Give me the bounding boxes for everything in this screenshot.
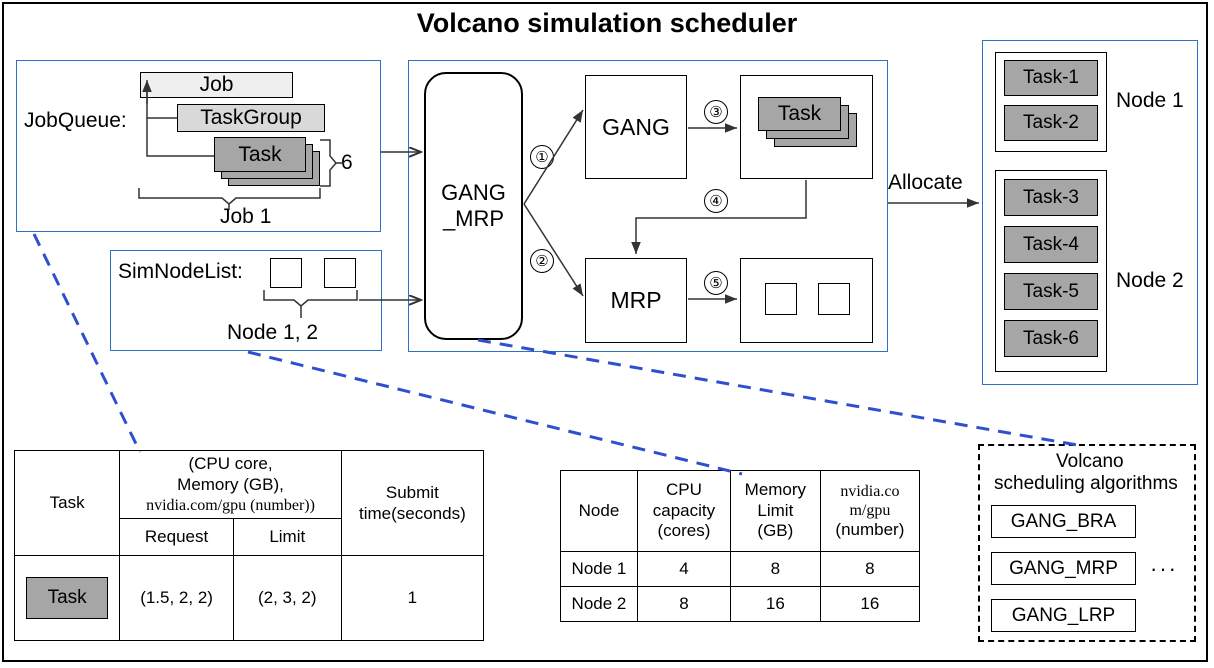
node-table-header-gpu: nvidia.co m/gpu (number): [820, 471, 919, 552]
node-table-cell-node: Node 1: [561, 552, 638, 587]
node-2-label: Node 2: [1116, 270, 1184, 292]
node-table: Node CPU capacity (cores) Memory Limit (…: [560, 470, 920, 622]
node12-brace-label: Node 1, 2: [227, 322, 318, 344]
taskgroup-box: TaskGroup: [177, 104, 325, 132]
node-2-task-0: Task-3: [1004, 179, 1098, 216]
page-title: Volcano simulation scheduler: [0, 8, 1214, 39]
task-table-cell-limit: (2, 3, 2): [233, 555, 341, 640]
cpu-line-2: capacity: [642, 501, 726, 521]
task-box-jobqueue: Task: [214, 137, 306, 172]
task-table-header-task: Task: [15, 451, 120, 556]
table-row: Node 1 4 8 8: [561, 552, 920, 587]
job1-brace-label: Job 1: [220, 206, 271, 228]
node-table-cell-mem: 8: [730, 552, 820, 587]
table-row: Node 2 8 16 16: [561, 587, 920, 622]
task-box-gang: Task: [758, 97, 841, 131]
task-table-header-resources: (CPU core, Memory (GB), nvidia.com/gpu (…: [120, 451, 341, 519]
task-table-cell-request: (1.5, 2, 2): [120, 555, 233, 640]
gpu-line-1: nvidia.co: [825, 482, 915, 501]
node-2-task-1: Task-4: [1004, 226, 1098, 263]
table-row: Task (CPU core, Memory (GB), nvidia.com/…: [15, 451, 484, 519]
node-table-header-node: Node: [561, 471, 638, 552]
gang-mrp-box: GANG _MRP: [424, 72, 523, 340]
algorithms-title-line-2: scheduling algorithms: [994, 474, 1178, 494]
mem-line-2: Limit: [735, 501, 816, 521]
task-table-header-submit: Submit time(seconds): [341, 451, 483, 556]
node-table-cell-mem: 16: [730, 587, 820, 622]
mrp-output-box: [740, 258, 873, 343]
task-chip: Task: [26, 577, 108, 619]
mem-line-1: Memory: [735, 480, 816, 500]
submit-line-1: Submit: [346, 482, 479, 503]
task-table-header-request: Request: [120, 518, 233, 555]
task-table-cell-submit: 1: [341, 555, 483, 640]
node-1-task-0: Task-1: [1004, 60, 1098, 96]
mrp-box: MRP: [585, 258, 687, 343]
node-table-cell-gpu: 8: [820, 552, 919, 587]
algorithms-ellipsis: ···: [1150, 556, 1178, 582]
diagram-canvas: Volcano simulation scheduler JobQueue: J…: [0, 0, 1214, 668]
simnode-box-2: [324, 258, 356, 288]
node-1-task-1: Task-2: [1004, 105, 1098, 141]
algorithm-gang-lrp[interactable]: GANG_LRP: [991, 599, 1136, 632]
table-row: Node CPU capacity (cores) Memory Limit (…: [561, 471, 920, 552]
task-table-cell-task: Task: [15, 555, 120, 640]
node-2-task-3: Task-6: [1004, 320, 1098, 357]
jobqueue-label: JobQueue:: [24, 110, 127, 132]
cpu-line-1: CPU: [642, 480, 726, 500]
step-5-badge: ⑤: [704, 271, 728, 295]
simnode-box-1: [270, 258, 302, 288]
step-2-badge: ②: [530, 249, 554, 273]
task-table-header-limit: Limit: [233, 518, 341, 555]
step-3-badge: ③: [704, 100, 728, 124]
node-table-cell-cpu: 8: [637, 587, 730, 622]
node-1-label: Node 1: [1116, 90, 1184, 112]
gpu-line-2: m/gpu: [825, 501, 915, 520]
resources-line-3: nvidia.com/gpu (number)): [124, 496, 336, 516]
algorithms-title-line-1: Volcano: [1056, 452, 1124, 472]
node-table-cell-gpu: 16: [820, 587, 919, 622]
algorithm-gang-mrp[interactable]: GANG_MRP: [991, 552, 1136, 585]
node-table-cell-cpu: 4: [637, 552, 730, 587]
mem-line-3: (GB): [735, 521, 816, 541]
gang-mrp-line2: _MRP: [443, 206, 504, 232]
gpu-line-3: (number): [825, 520, 915, 540]
resources-line-1: (CPU core,: [124, 453, 336, 474]
gang-box: GANG: [585, 75, 687, 179]
submit-line-2: time(seconds): [346, 503, 479, 524]
node-2-task-2: Task-5: [1004, 273, 1098, 310]
task-table: Task (CPU core, Memory (GB), nvidia.com/…: [14, 450, 484, 641]
allocate-label: Allocate: [888, 172, 963, 194]
simnodelist-label: SimNodeList:: [118, 261, 243, 283]
job-box: Job: [140, 72, 293, 98]
step-4-badge: ④: [704, 189, 728, 213]
task-count-label: 6: [341, 152, 353, 174]
node-table-header-cpu: CPU capacity (cores): [637, 471, 730, 552]
node-table-header-memory: Memory Limit (GB): [730, 471, 820, 552]
table-row: Task (1.5, 2, 2) (2, 3, 2) 1: [15, 555, 484, 640]
resources-line-2: Memory (GB),: [124, 474, 336, 495]
step-1-badge: ①: [530, 145, 554, 169]
algorithm-gang-bra[interactable]: GANG_BRA: [991, 505, 1136, 538]
node-table-cell-node: Node 2: [561, 587, 638, 622]
gang-mrp-line1: GANG: [441, 180, 506, 206]
mrp-output-node-2: [818, 283, 850, 315]
mrp-output-node-1: [765, 283, 797, 315]
cpu-line-3: (cores): [642, 521, 726, 541]
